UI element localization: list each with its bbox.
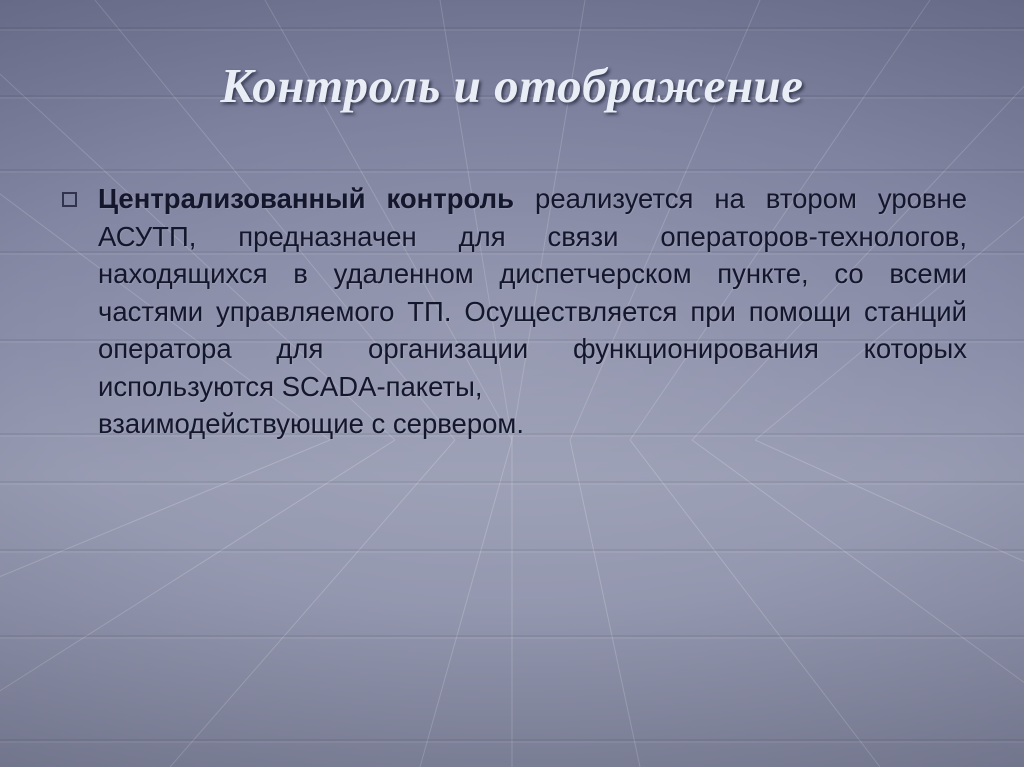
- slide-title: Контроль и отображение: [0, 57, 1024, 114]
- bullet-paragraph: Централизованный контроль реализуется на…: [98, 180, 967, 443]
- bullet-last-line: взаимодействующие с сервером.: [98, 405, 967, 443]
- slide-body: Централизованный контроль реализуется на…: [62, 180, 967, 443]
- bullet-rest-text: реализуется на втором уровне АСУТП, пред…: [98, 183, 967, 402]
- bullet-item: Централизованный контроль реализуется на…: [62, 180, 967, 443]
- presentation-slide: Контроль и отображение Централизованный …: [0, 0, 1024, 767]
- bullet-lead-bold: Централизованный контроль: [98, 183, 514, 214]
- square-bullet-icon: [62, 180, 98, 210]
